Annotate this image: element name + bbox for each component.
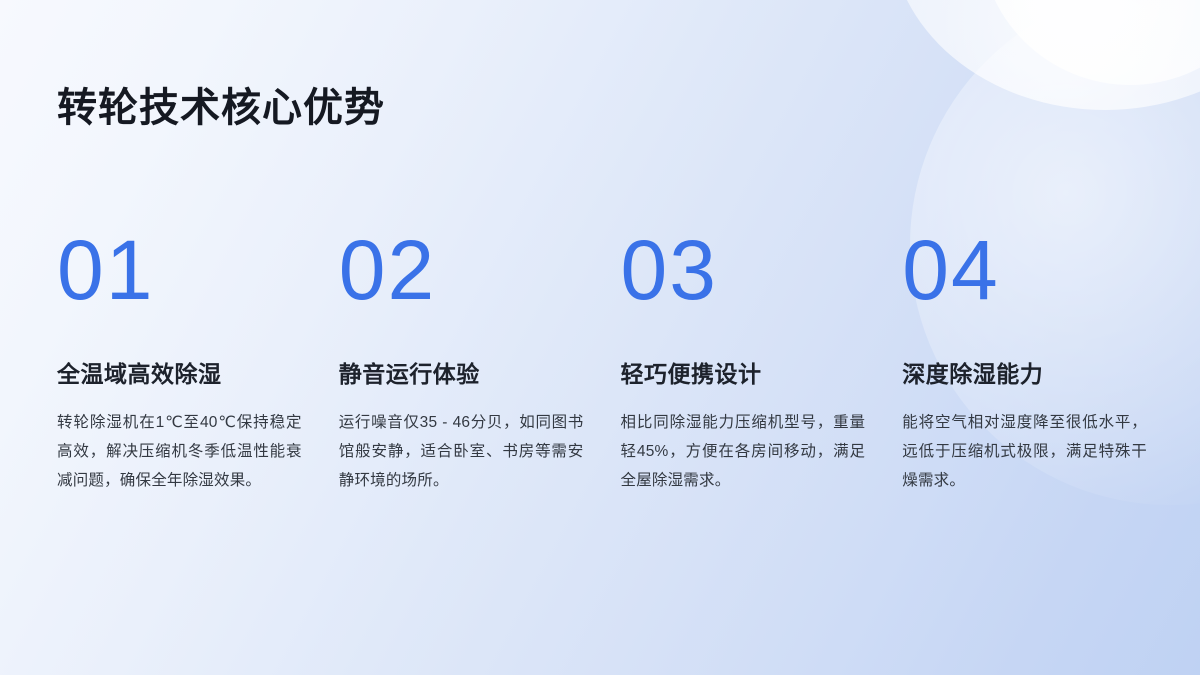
feature-body-01: 转轮除湿机在1℃至40℃保持稳定高效，解决压缩机冬季低温性能衰减问题，确保全年除… <box>57 408 302 495</box>
page-title: 转轮技术核心优势 <box>57 79 385 137</box>
feature-number-04: 04 <box>902 224 1147 316</box>
feature-number-01: 01 <box>57 224 302 316</box>
feature-heading-03: 轻巧便携设计 <box>621 358 866 390</box>
feature-body-02: 运行噪音仅35 - 46分贝，如同图书馆般安静，适合卧室、书房等需安静环境的场所… <box>339 408 584 495</box>
feature-heading-04: 深度除湿能力 <box>902 358 1147 390</box>
feature-number-02: 02 <box>339 224 584 316</box>
feature-number-03: 03 <box>621 224 866 316</box>
feature-body-03: 相比同除湿能力压缩机型号，重量轻45%，方便在各房间移动，满足全屋除湿需求。 <box>621 408 866 495</box>
feature-heading-01: 全温域高效除湿 <box>57 358 302 390</box>
feature-columns: 01 全温域高效除湿 转轮除湿机在1℃至40℃保持稳定高效，解决压缩机冬季低温性… <box>57 224 1147 495</box>
decorative-circle-top-right <box>980 0 1200 85</box>
feature-body-04: 能将空气相对湿度降至很低水平，远低于压缩机式极限，满足特殊干燥需求。 <box>902 408 1147 495</box>
feature-column-2: 02 静音运行体验 运行噪音仅35 - 46分贝，如同图书馆般安静，适合卧室、书… <box>339 224 584 495</box>
slide-canvas: 转轮技术核心优势 01 全温域高效除湿 转轮除湿机在1℃至40℃保持稳定高效，解… <box>0 0 1200 675</box>
feature-column-3: 03 轻巧便携设计 相比同除湿能力压缩机型号，重量轻45%，方便在各房间移动，满… <box>621 224 866 495</box>
feature-column-4: 04 深度除湿能力 能将空气相对湿度降至很低水平，远低于压缩机式极限，满足特殊干… <box>902 224 1147 495</box>
decorative-glow-top-right <box>890 0 1200 110</box>
feature-heading-02: 静音运行体验 <box>339 358 584 390</box>
feature-column-1: 01 全温域高效除湿 转轮除湿机在1℃至40℃保持稳定高效，解决压缩机冬季低温性… <box>57 224 302 495</box>
